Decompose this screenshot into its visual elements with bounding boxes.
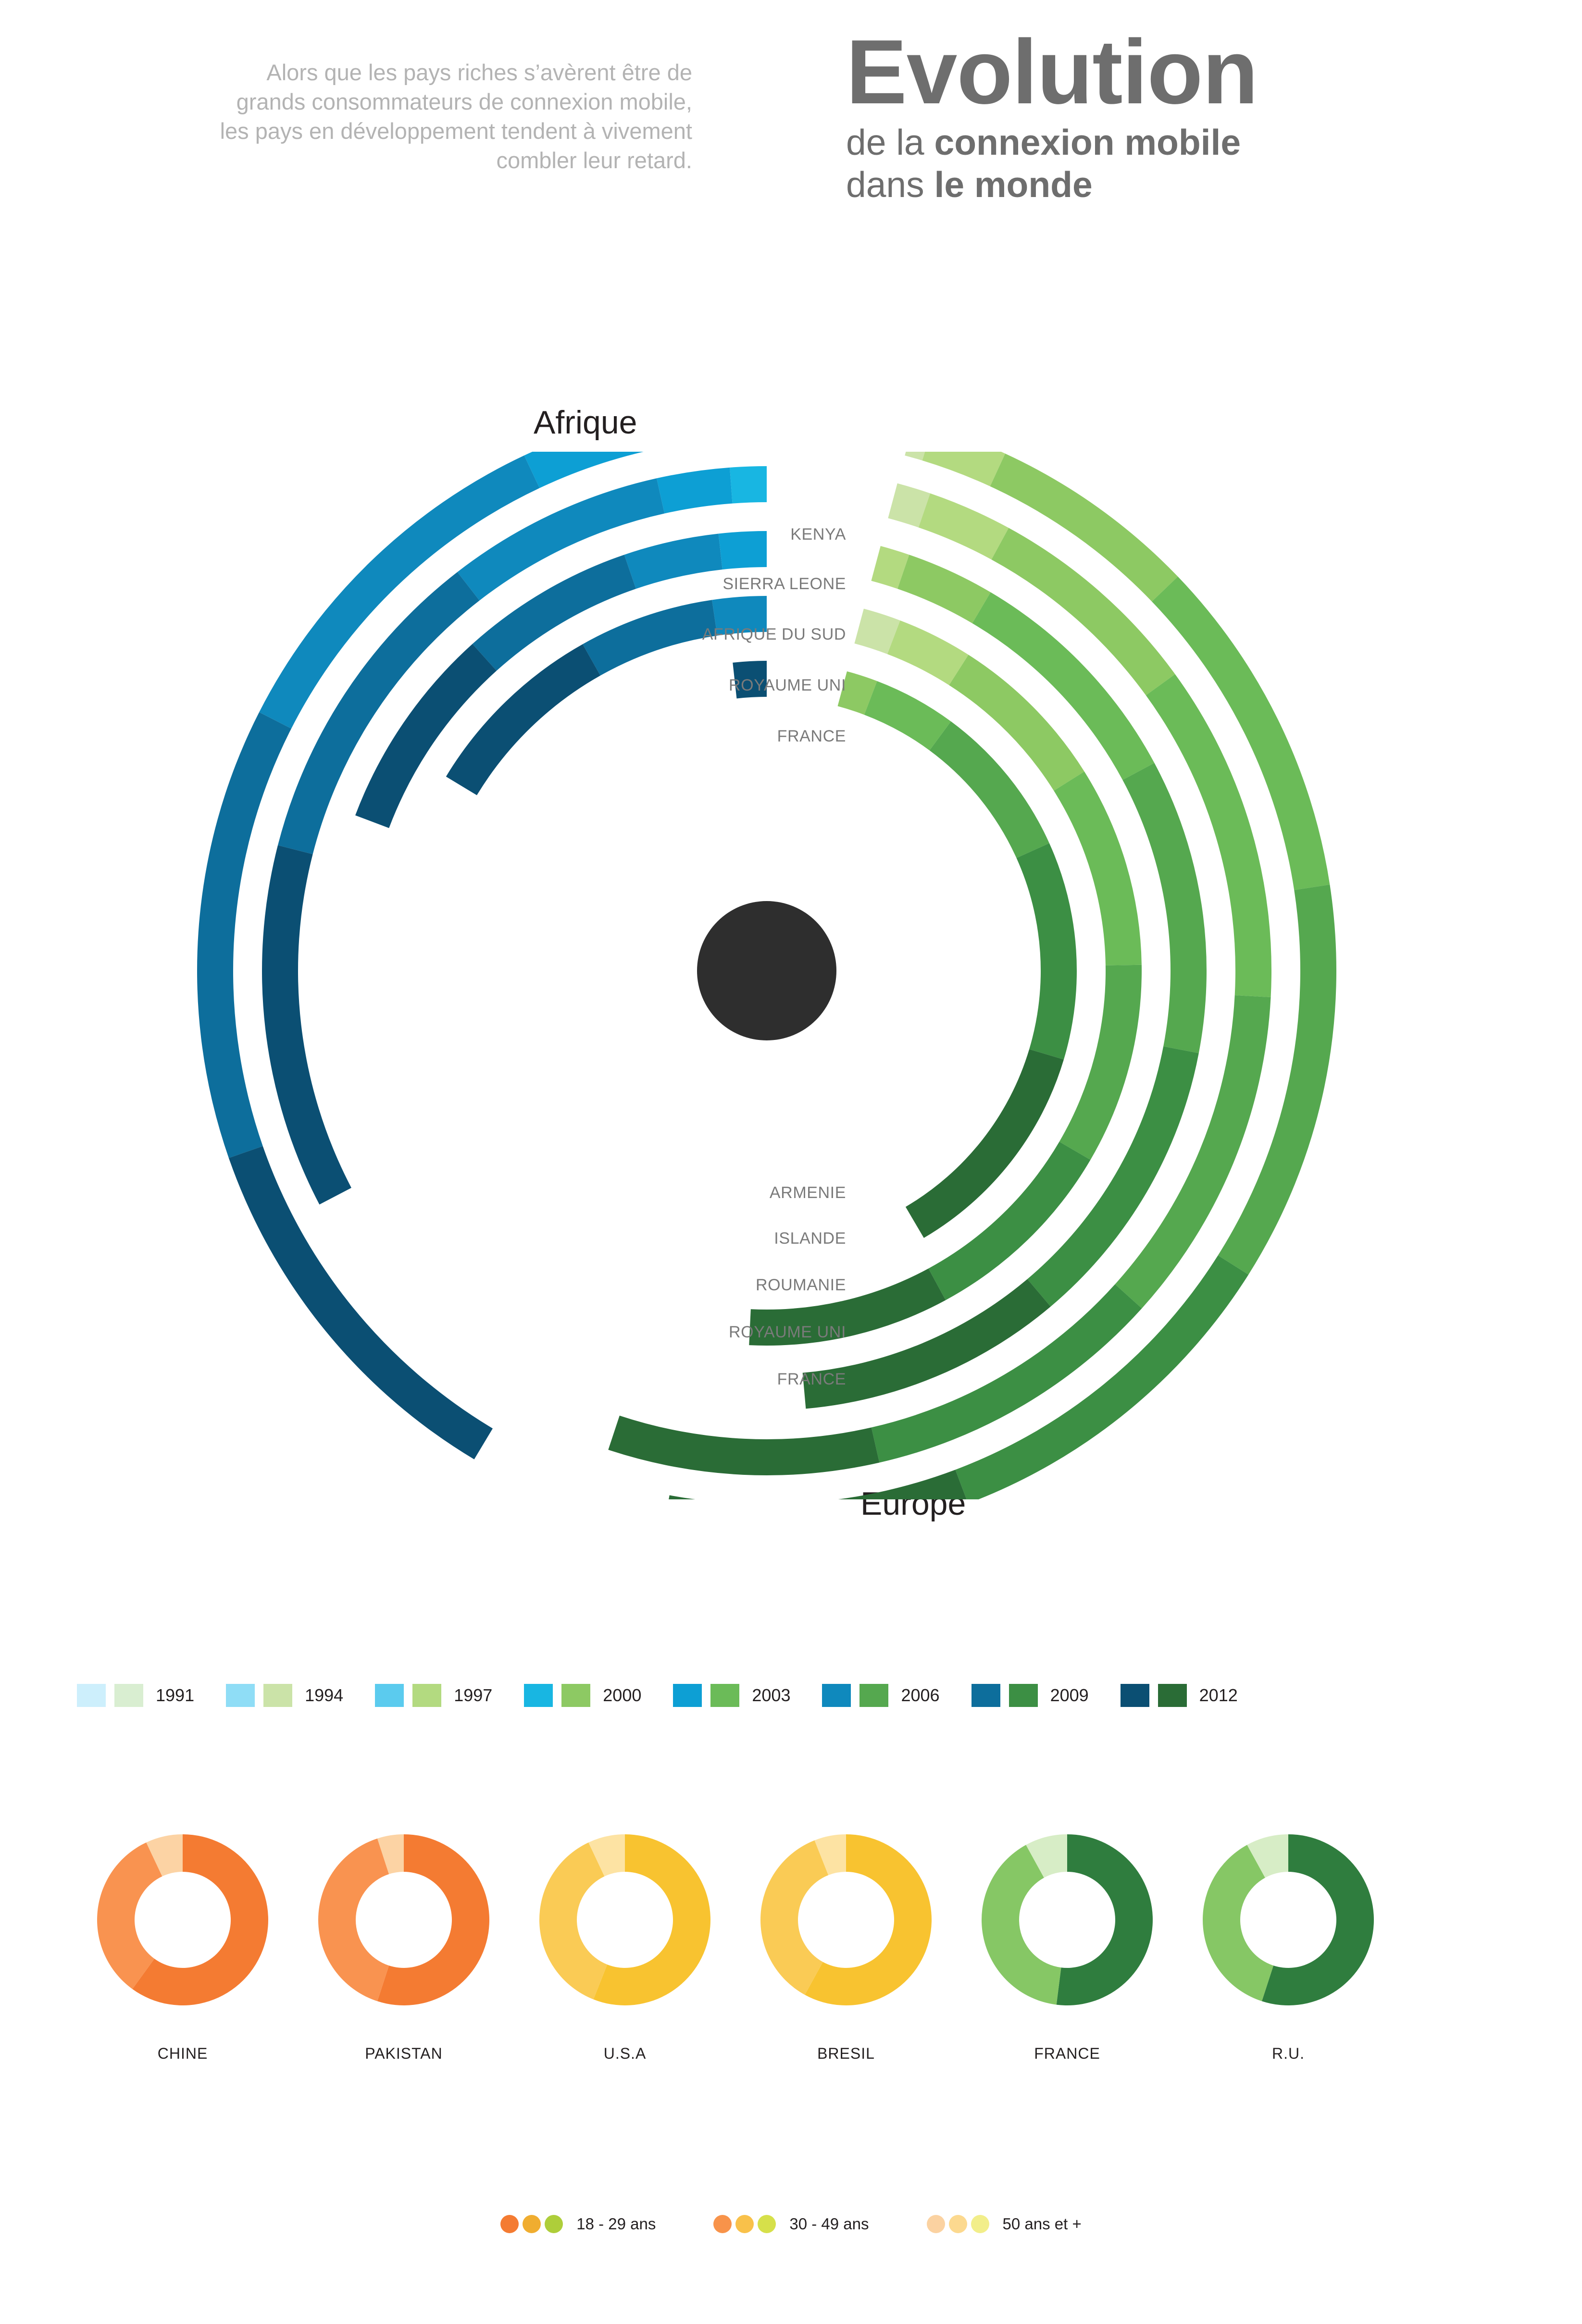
subtitle-line-1: de la connexion mobile	[846, 123, 1471, 162]
section-title-africa: Afrique	[534, 404, 637, 441]
legend-swatch-blue-2003	[673, 1684, 702, 1707]
intro-paragraph: Alors que les pays riches s’avèrent être…	[212, 58, 692, 175]
age-legend-item: 30 - 49 ans	[713, 2215, 869, 2233]
donut-pakistan: PAKISTAN	[310, 1826, 498, 2014]
donut-svg	[1195, 1826, 1382, 2014]
age-legend-item: 18 - 29 ans	[500, 2215, 656, 2233]
europe-label-armenie: ARMENIE	[591, 1184, 846, 1202]
legend-year-label: 1997	[454, 1685, 492, 1706]
legend-swatch-blue-1997	[375, 1684, 404, 1707]
page-title: Evolution	[846, 29, 1471, 116]
donut-slice-1	[539, 1842, 607, 2000]
age-legend-dot-2	[545, 2215, 563, 2233]
donut-label: FRANCE	[957, 2045, 1178, 2063]
europe-label-islande: ISLANDE	[591, 1229, 846, 1248]
legend-swatch-blue-2000	[524, 1684, 553, 1707]
donut-svg	[531, 1826, 719, 2014]
donut-label: PAKISTAN	[293, 2045, 514, 2063]
subtitle-1-bold: connexion mobile	[934, 122, 1241, 162]
age-legend-dot-2	[758, 2215, 776, 2233]
year-legend: 19911994199720002003200620092012	[77, 1681, 1509, 1710]
legend-swatch-green-2003	[710, 1684, 739, 1707]
age-legend-label: 18 - 29 ans	[576, 2215, 656, 2233]
africa-label-france: FRANCE	[591, 727, 846, 746]
legend-year-label: 2003	[752, 1685, 790, 1706]
legend-year-label: 1991	[156, 1685, 194, 1706]
europe-label-royaume-uni: ROYAUME UNI	[591, 1323, 846, 1342]
year-legend-item-2006: 2006	[822, 1684, 939, 1707]
donut-label: BRESIL	[735, 2045, 957, 2063]
year-legend-item-2003: 2003	[673, 1684, 790, 1707]
africa-label-royaume-uni: ROYAUME UNI	[591, 676, 846, 695]
legend-year-label: 1994	[305, 1685, 343, 1706]
title-block: Evolution de la connexion mobile dans le…	[846, 29, 1471, 205]
age-legend: 18 - 29 ans30 - 49 ans50 ans et +	[0, 2205, 1582, 2243]
arc-segment-2012	[229, 1146, 493, 1459]
europe-label-france: FRANCE	[591, 1370, 846, 1389]
legend-swatch-green-2000	[561, 1684, 590, 1707]
europe-label-roumanie: ROUMANIE	[591, 1276, 846, 1295]
subtitle-2-bold: le monde	[934, 164, 1092, 205]
arc-segment-2009	[955, 1255, 1248, 1499]
donut-slice-1	[318, 1839, 389, 2002]
donut-svg	[973, 1826, 1161, 2014]
legend-swatch-green-2012	[1158, 1684, 1187, 1707]
legend-swatch-blue-2009	[972, 1684, 1000, 1707]
arc-segment-1997	[919, 494, 1009, 560]
arc-segment-2012	[608, 1416, 879, 1475]
center-dot	[697, 901, 836, 1040]
donut-label: U.S.A	[514, 2045, 735, 2063]
arc-segment-2009	[1016, 843, 1077, 1060]
year-legend-item-2009: 2009	[972, 1684, 1089, 1707]
africa-label-kenya: KENYA	[591, 525, 846, 544]
year-legend-item-1994: 1994	[226, 1684, 343, 1707]
donut-chine: CHINE	[89, 1826, 276, 2014]
age-legend-item: 50 ans et +	[927, 2215, 1082, 2233]
subtitle-2-light: dans	[846, 164, 934, 205]
donut-label: R.U.	[1178, 2045, 1399, 2063]
legend-year-label: 2000	[603, 1685, 641, 1706]
africa-label-sierra-leone: SIERRA LEONE	[591, 575, 846, 593]
donut-usa: U.S.A	[531, 1826, 719, 2014]
donut-svg	[752, 1826, 940, 2014]
age-legend-dot-0	[713, 2215, 732, 2233]
donut-chart-row: CHINEPAKISTANU.S.ABRESILFRANCER.U.	[0, 1826, 1582, 2057]
legend-swatch-green-1991	[114, 1684, 143, 1707]
legend-year-label: 2009	[1050, 1685, 1089, 1706]
arc-segment-2003	[657, 468, 733, 514]
subtitle-line-2: dans le monde	[846, 165, 1471, 205]
year-legend-item-1997: 1997	[375, 1684, 492, 1707]
africa-label-afrique-du-sud: AFRIQUE DU SUD	[591, 625, 846, 644]
age-legend-dot-2	[971, 2215, 989, 2233]
subtitle-1-light: de la	[846, 122, 934, 162]
arc-segment-2006	[259, 456, 539, 729]
donut-slice-0	[1057, 1834, 1153, 2005]
legend-swatch-blue-1994	[226, 1684, 255, 1707]
age-legend-dot-1	[523, 2215, 541, 2233]
donut-bresil: BRESIL	[752, 1826, 940, 2014]
legend-year-label: 2006	[901, 1685, 939, 1706]
legend-swatch-green-2006	[860, 1684, 888, 1707]
arc-segment-2012	[262, 845, 351, 1205]
donut-france: FRANCE	[973, 1826, 1161, 2014]
arc-segment-2000	[730, 466, 767, 504]
donut-svg	[310, 1826, 498, 2014]
donut-label: CHINE	[72, 2045, 293, 2063]
arc-segment-2000	[897, 555, 991, 623]
year-legend-item-2000: 2000	[524, 1684, 641, 1707]
legend-swatch-blue-2006	[822, 1684, 851, 1707]
age-legend-label: 50 ans et +	[1003, 2215, 1082, 2233]
age-legend-label: 30 - 49 ans	[789, 2215, 869, 2233]
legend-swatch-blue-1991	[77, 1684, 106, 1707]
radial-chart: KENYASIERRA LEONEAFRIQUE DU SUDROYAUME U…	[0, 452, 1582, 1499]
arc-segment-2012	[663, 1470, 968, 1499]
year-legend-item-2012: 2012	[1121, 1684, 1238, 1707]
donut-svg	[89, 1826, 276, 2014]
year-legend-item-1991: 1991	[77, 1684, 194, 1707]
legend-year-label: 2012	[1199, 1685, 1238, 1706]
donut-ru: R.U.	[1195, 1826, 1382, 2014]
legend-swatch-green-1994	[263, 1684, 292, 1707]
legend-swatch-green-2009	[1009, 1684, 1038, 1707]
legend-swatch-green-1997	[412, 1684, 441, 1707]
age-legend-dot-0	[500, 2215, 519, 2233]
age-legend-dot-1	[949, 2215, 967, 2233]
age-legend-dot-0	[927, 2215, 945, 2233]
legend-swatch-blue-2012	[1121, 1684, 1149, 1707]
age-legend-dot-1	[735, 2215, 754, 2233]
radial-chart-svg	[0, 452, 1582, 1499]
